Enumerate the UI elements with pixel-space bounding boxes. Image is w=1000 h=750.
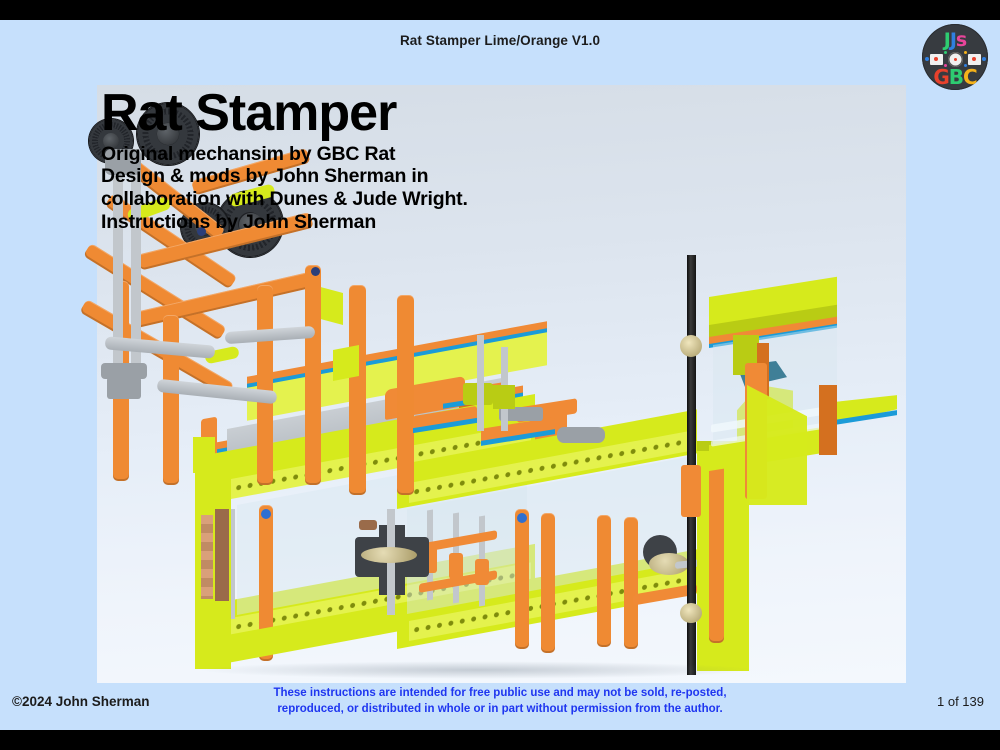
subtitle-line-4: Instructions by John Sherman: [101, 211, 571, 234]
rat-cam-wheel: [361, 547, 417, 563]
subtitle-line-3: collaboration with Dunes & Jude Wright.: [101, 188, 571, 211]
subtitle-line-2: Design & mods by John Sherman in: [101, 165, 571, 188]
tower-post-3: [257, 285, 273, 485]
pdf-viewer: Rat Stamper Lime/Orange V1.0 JJs GBC: [0, 0, 1000, 750]
page-title: Rat Stamper: [101, 86, 571, 141]
vertical-beam-mid-4: [624, 517, 638, 649]
blue-pin-left: [261, 509, 271, 519]
dark-blue-pin-2: [311, 267, 320, 276]
title-block: Rat Stamper Original mechansim by GBC Ra…: [101, 86, 571, 234]
model-ground-shadow: [197, 661, 757, 679]
logo-ball-far-left: [925, 57, 929, 61]
logo-letter-b: B: [949, 65, 963, 89]
top-grey-connector: [557, 427, 605, 443]
logo-ball-upper-right: [964, 51, 967, 54]
piston-collar-2: [449, 553, 463, 579]
logo-letter-c: C: [963, 65, 977, 89]
jjs-gbc-logo: JJs GBC: [922, 24, 988, 90]
axle-collar-orange: [681, 465, 701, 517]
logo-letter-s: s: [956, 29, 966, 51]
footer-disclaimer-line-1: These instructions are intended for free…: [240, 685, 760, 702]
logo-gear-hub-dot: [954, 58, 957, 61]
vertical-beam-mid-1: [515, 509, 529, 649]
logo-ball-far-right: [982, 57, 986, 61]
logo-block-right-dot: [972, 57, 976, 61]
center-post-1: [349, 285, 366, 495]
exit-ramp-support: [819, 385, 837, 455]
logo-letter-g: G: [933, 65, 948, 89]
rat-lever-arm: [359, 520, 377, 530]
slider-base: [107, 377, 141, 399]
vertical-beam-mid-2: [541, 513, 555, 653]
center-post-2: [397, 295, 414, 495]
upright-axle-1: [477, 335, 484, 431]
tower-post-4: [305, 265, 321, 485]
document-page: Rat Stamper Lime/Orange V1.0 JJs GBC: [0, 20, 1000, 730]
vertical-beam-mid-3: [597, 515, 611, 647]
logo-ball-upper-left: [944, 51, 947, 54]
right-tower-beam: [709, 463, 724, 643]
internal-axle-left: [231, 509, 235, 619]
internal-tan-stack: [201, 515, 213, 599]
blue-pin-mid-1: [517, 513, 527, 523]
axle-worm-gear: [680, 335, 702, 357]
internal-brown-column: [215, 509, 229, 601]
logo-top-text: JJs: [922, 31, 988, 50]
footer-disclaimer-line-2: reproduced, or distributed in whole or i…: [240, 701, 760, 718]
footer-copyright: ©2024 John Sherman: [12, 694, 150, 709]
center-lime-wedge: [333, 345, 359, 381]
upright-lime-block: [493, 385, 515, 409]
page-indicator: 1 of 139: [937, 694, 984, 709]
axle-bottom-gear: [680, 603, 702, 623]
document-header-title: Rat Stamper Lime/Orange V1.0: [0, 33, 1000, 48]
subtitle-line-1: Original mechansim by GBC Rat: [101, 143, 571, 166]
footer-disclaimer: These instructions are intended for free…: [240, 685, 760, 718]
logo-bottom-text: GBC: [922, 67, 988, 87]
logo-block-left-dot: [934, 57, 938, 61]
